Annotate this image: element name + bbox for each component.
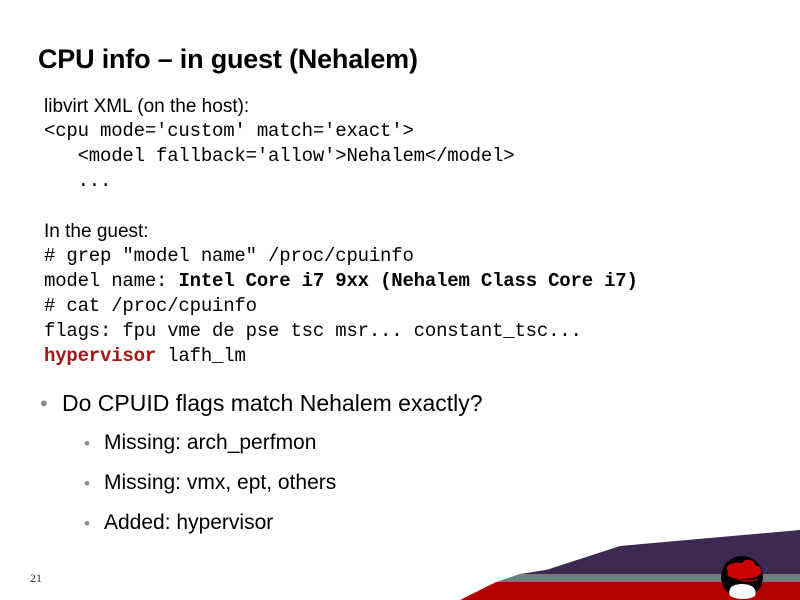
list-item: • Do CPUID flags match Nehalem exactly? xyxy=(40,388,760,419)
bullet-text: Added: hypervisor xyxy=(104,509,273,537)
model-name-value: Intel Core i7 9xx (Nehalem Class Core i7… xyxy=(178,270,637,292)
red-hat-shadowman-logo xyxy=(721,556,763,599)
bullet-dot-icon: • xyxy=(84,510,104,538)
bullet-text: Missing: arch_perfmon xyxy=(104,429,316,457)
xml-line-1: <cpu mode='custom' match='exact'> xyxy=(44,119,774,144)
page-title: CPU info – in guest (Nehalem) xyxy=(38,44,418,75)
cpu-flags-line-2: hypervisor lafh_lm xyxy=(44,344,774,369)
hypervisor-flag-highlight: hypervisor xyxy=(44,345,156,367)
presentation-slide: CPU info – in guest (Nehalem) libvirt XM… xyxy=(0,0,800,600)
spacer xyxy=(44,194,774,219)
bullet-list: • Do CPUID flags match Nehalem exactly? … xyxy=(40,388,760,549)
slide-body: libvirt XML (on the host): <cpu mode='cu… xyxy=(44,94,774,369)
bullet-text: Missing: vmx, ept, others xyxy=(104,469,336,497)
guest-command-cat: # cat /proc/cpuinfo xyxy=(44,294,774,319)
model-name-line: model name: Intel Core i7 9xx (Nehalem C… xyxy=(44,269,774,294)
gray-band xyxy=(496,574,800,582)
list-item: • Added: hypervisor xyxy=(84,509,760,538)
cpu-flags-remainder: lafh_lm xyxy=(156,345,246,367)
slide-number: 21 xyxy=(30,571,42,586)
model-name-prefix: model name: xyxy=(44,270,178,292)
red-band xyxy=(460,582,800,600)
bullet-dot-icon: • xyxy=(84,430,104,458)
list-item: • Missing: arch_perfmon xyxy=(84,429,760,458)
guest-command-grep: # grep "model name" /proc/cpuinfo xyxy=(44,244,774,269)
guest-label: In the guest: xyxy=(44,219,774,244)
bullet-dot-icon: • xyxy=(84,470,104,498)
cpu-flags-line: flags: fpu vme de pse tsc msr... constan… xyxy=(44,319,774,344)
bullet-dot-icon: • xyxy=(40,389,62,419)
xml-line-2: <model fallback='allow'>Nehalem</model> xyxy=(44,144,774,169)
host-label: libvirt XML (on the host): xyxy=(44,94,774,119)
bullet-text: Do CPUID flags match Nehalem exactly? xyxy=(62,388,483,418)
xml-line-3: ... xyxy=(44,169,774,194)
list-item: • Missing: vmx, ept, others xyxy=(84,469,760,498)
